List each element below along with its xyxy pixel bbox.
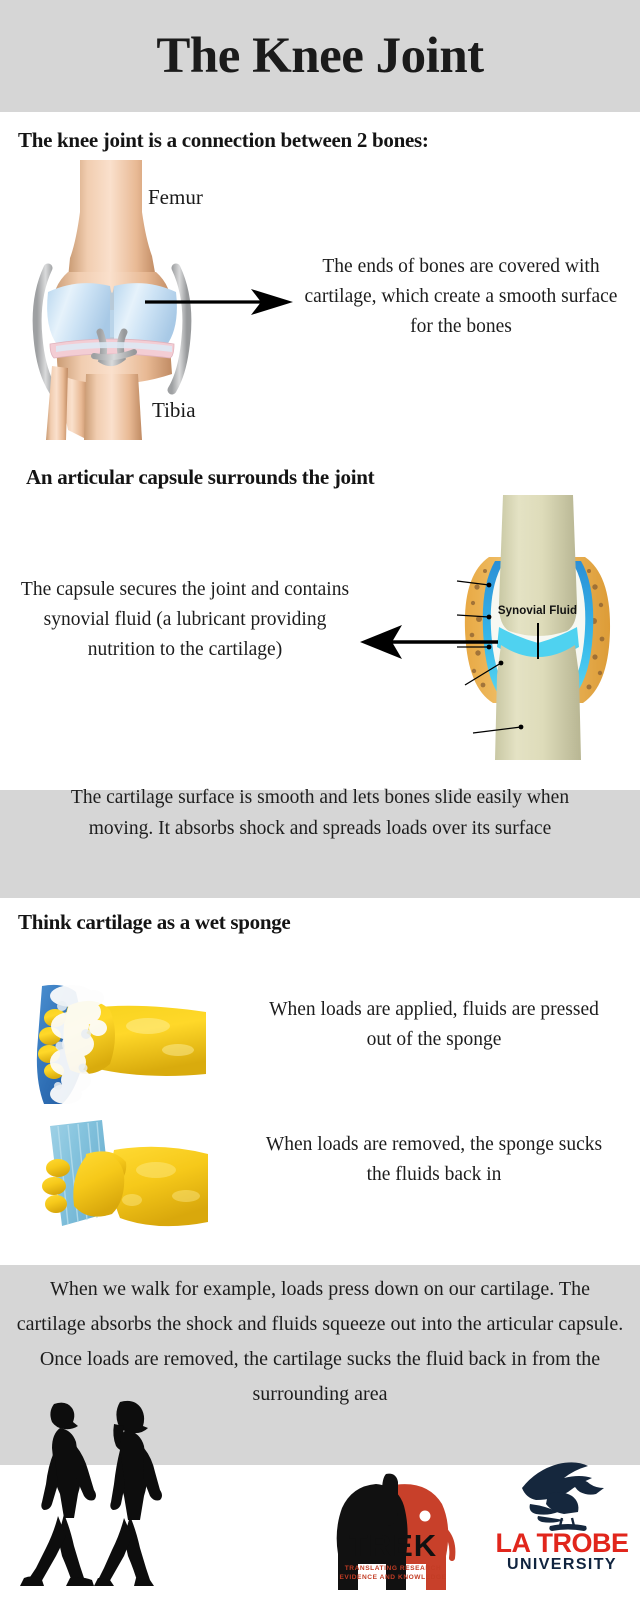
label-tibia: Tibia — [152, 398, 196, 423]
infographic-page: The Knee Joint The knee joint is a conne… — [0, 0, 640, 1600]
latrobe-eagle-logo — [492, 1460, 622, 1535]
text-walking-explanation: When we walk for example, loads press do… — [14, 1272, 626, 1412]
trek-wordmark: TREK — [330, 1528, 456, 1564]
label-synovial-fluid: Synovial Fluid — [455, 605, 620, 617]
photo-sponge-held — [28, 1108, 208, 1248]
label-femur: Femur — [148, 185, 203, 210]
photo-sponge-squeezed — [28, 982, 208, 1104]
text-cartilage-surface: The cartilage surface is smooth and lets… — [40, 782, 600, 844]
arrow-right-icon — [143, 287, 295, 317]
text-loads-applied: When loads are applied, fluids are press… — [256, 995, 612, 1055]
text-loads-removed: When loads are removed, the sponge sucks… — [256, 1130, 612, 1190]
trek-tagline-line1: TRANSLATING RESEARCH — [330, 1565, 456, 1572]
latrobe-subtitle: UNIVERSITY — [490, 1556, 634, 1574]
callout-cartilage-cover: The ends of bones are covered with carti… — [296, 252, 626, 342]
heading-bones: The knee joint is a connection between 2… — [18, 128, 429, 153]
page-title: The Knee Joint — [0, 0, 640, 112]
arrow-left-icon — [360, 622, 500, 662]
trek-tagline-line2: EVIDENCE AND KNOWLEDGE — [330, 1574, 456, 1581]
latrobe-name: LA TROBE — [490, 1528, 634, 1559]
heading-articular-capsule: An articular capsule surrounds the joint — [26, 465, 374, 490]
walking-people-silhouette — [14, 1398, 194, 1588]
callout-capsule: The capsule secures the joint and contai… — [10, 575, 360, 665]
heading-wet-sponge: Think cartilage as a wet sponge — [18, 910, 290, 935]
